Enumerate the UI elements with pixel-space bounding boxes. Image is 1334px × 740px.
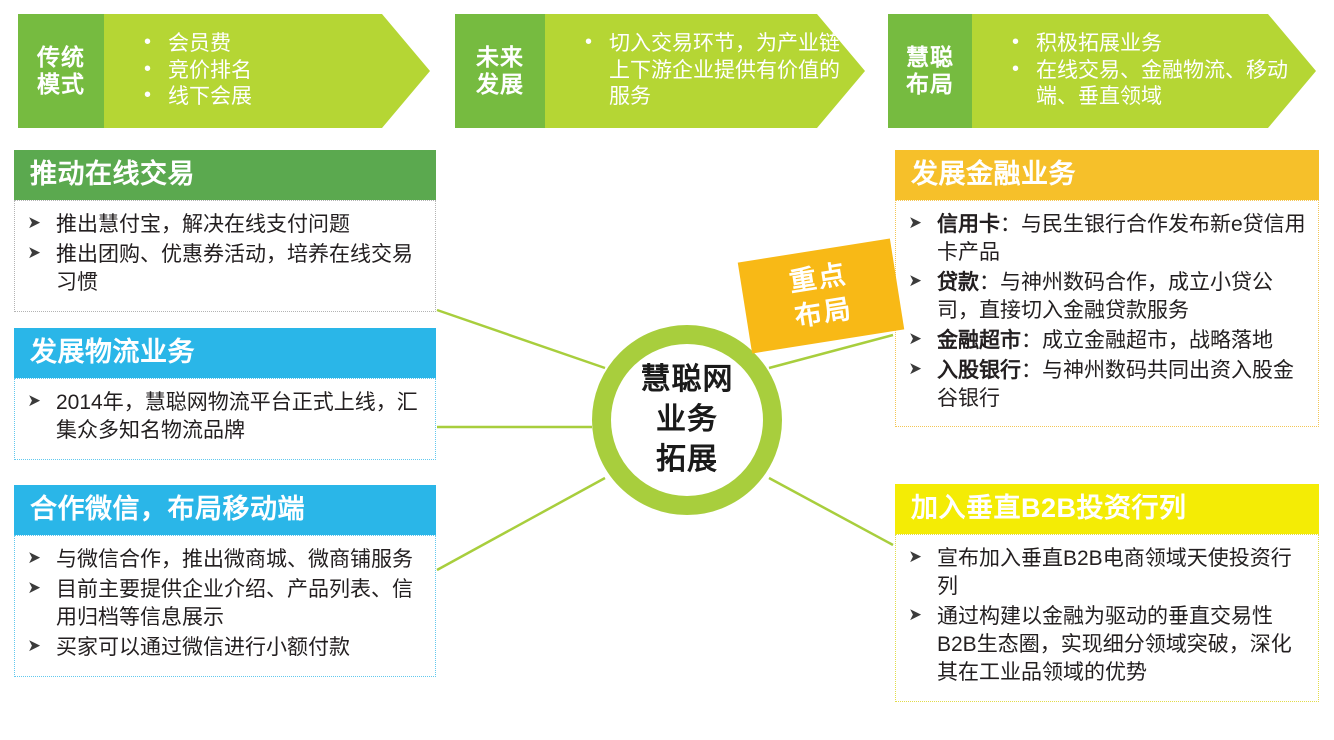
card-body: 推出慧付宝，解决在线支付问题 推出团购、优惠券活动，培养在线交易习惯 <box>14 200 436 312</box>
banner-traditional-list: 会员费 竞价排名 线下会展 <box>104 31 252 112</box>
list-item: 推出团购、优惠券活动，培养在线交易习惯 <box>25 241 425 297</box>
list-item-label: 信用卡 <box>937 213 1000 236</box>
list-item: 推出慧付宝，解决在线支付问题 <box>25 211 425 239</box>
card-develop-finance: 发展金融业务 信用卡：与民生银行合作发布新e贷信用卡产品 贷款：与神州数码合作，… <box>895 150 1319 427</box>
card-body: 与微信合作，推出微商城、微商铺服务 目前主要提供企业介绍、产品列表、信用归档等信… <box>14 535 436 677</box>
banner-hc-list: 积极拓展业务 在线交易、金融物流、移动端、垂直领域 <box>972 31 1316 112</box>
banner-hc-tab-line2: 布局 <box>906 71 954 98</box>
list-item: 积极拓展业务 <box>1010 31 1316 58</box>
connector-online <box>437 310 605 368</box>
center-line-2: 业务 <box>656 400 718 440</box>
card-list: 推出慧付宝，解决在线支付问题 推出团购、优惠券活动，培养在线交易习惯 <box>25 211 425 297</box>
banner-traditional-tab-line2: 模式 <box>37 71 85 98</box>
focus-tag: 重点 布局 <box>738 239 904 354</box>
list-item-label: 贷款 <box>937 271 979 294</box>
list-item: 金融超市：成立金融超市，战略落地 <box>906 327 1308 355</box>
card-title: 加入垂直B2B投资行列 <box>895 484 1319 534</box>
list-item: 宣布加入垂直B2B电商领域天使投资行列 <box>906 545 1308 601</box>
card-list: 宣布加入垂直B2B电商领域天使投资行列 通过构建以金融为驱动的垂直交易性B2B生… <box>906 545 1308 687</box>
banner-hc-body: 积极拓展业务 在线交易、金融物流、移动端、垂直领域 <box>972 14 1316 128</box>
card-body: 信用卡：与民生银行合作发布新e贷信用卡产品 贷款：与神州数码合作，成立小贷公司，… <box>895 200 1319 427</box>
center-line-3: 拓展 <box>656 440 718 480</box>
list-item-label: 金融超市 <box>937 329 1021 352</box>
banner-traditional-tab-line1: 传统 <box>37 44 85 71</box>
list-item: 贷款：与神州数码合作，成立小贷公司，直接切入金融贷款服务 <box>906 269 1308 325</box>
card-list: 信用卡：与民生银行合作发布新e贷信用卡产品 贷款：与神州数码合作，成立小贷公司，… <box>906 211 1308 412</box>
card-wechat-mobile: 合作微信，布局移动端 与微信合作，推出微商城、微商铺服务 目前主要提供企业介绍、… <box>14 485 436 677</box>
banner-future-list: 切入交易环节，为产业链上下游企业提供有价值的服务 <box>545 31 859 112</box>
card-title: 发展物流业务 <box>14 328 436 378</box>
banner-hc-tab: 慧聪 布局 <box>888 14 972 128</box>
banner-traditional-body: 会员费 竞价排名 线下会展 <box>104 14 430 128</box>
banner-future-body: 切入交易环节，为产业链上下游企业提供有价值的服务 <box>545 14 865 128</box>
banner-future-tab-line2: 发展 <box>476 71 524 98</box>
center-circle: 慧聪网 业务 拓展 <box>592 325 782 515</box>
banner-hc-tab-line1: 慧聪 <box>906 44 954 71</box>
card-list: 2014年，慧聪网物流平台正式上线，汇集众多知名物流品牌 <box>25 389 425 445</box>
banner-future-tab-line1: 未来 <box>476 44 524 71</box>
card-title: 合作微信，布局移动端 <box>14 485 436 535</box>
list-item: 线下会展 <box>142 84 252 111</box>
list-item: 买家可以通过微信进行小额付款 <box>25 634 425 662</box>
banner-traditional-tab: 传统 模式 <box>18 14 104 128</box>
list-item: 与微信合作，推出微商城、微商铺服务 <box>25 546 425 574</box>
banner-hc-layout: 慧聪 布局 积极拓展业务 在线交易、金融物流、移动端、垂直领域 <box>888 14 1316 128</box>
list-item: 信用卡：与民生银行合作发布新e贷信用卡产品 <box>906 211 1308 267</box>
banner-future-development: 未来 发展 切入交易环节，为产业链上下游企业提供有价值的服务 <box>455 14 865 128</box>
center-line-1: 慧聪网 <box>641 360 734 400</box>
banner-future-tab: 未来 发展 <box>455 14 545 128</box>
card-title: 推动在线交易 <box>14 150 436 200</box>
list-item: 目前主要提供企业介绍、产品列表、信用归档等信息展示 <box>25 576 425 632</box>
list-item-text: ：成立金融超市，战略落地 <box>1021 329 1273 352</box>
connector-wechat <box>437 478 605 570</box>
list-item-text: ：与神州数码合作，成立小贷公司，直接切入金融贷款服务 <box>937 271 1273 322</box>
card-push-online-trading: 推动在线交易 推出慧付宝，解决在线支付问题 推出团购、优惠券活动，培养在线交易习… <box>14 150 436 312</box>
card-list: 与微信合作，推出微商城、微商铺服务 目前主要提供企业介绍、产品列表、信用归档等信… <box>25 546 425 662</box>
list-item: 2014年，慧聪网物流平台正式上线，汇集众多知名物流品牌 <box>25 389 425 445</box>
focus-tag-line-2: 布局 <box>792 291 855 335</box>
connector-b2b <box>769 478 893 545</box>
card-join-b2b-investment: 加入垂直B2B投资行列 宣布加入垂直B2B电商领域天使投资行列 通过构建以金融为… <box>895 484 1319 702</box>
card-title: 发展金融业务 <box>895 150 1319 200</box>
list-item-label: 入股银行 <box>937 359 1021 382</box>
list-item: 竞价排名 <box>142 58 252 85</box>
list-item: 切入交易环节，为产业链上下游企业提供有价值的服务 <box>583 31 859 112</box>
banner-traditional-mode: 传统 模式 会员费 竞价排名 线下会展 <box>18 14 430 128</box>
card-body: 宣布加入垂直B2B电商领域天使投资行列 通过构建以金融为驱动的垂直交易性B2B生… <box>895 534 1319 702</box>
list-item: 通过构建以金融为驱动的垂直交易性B2B生态圈，实现细分领域突破，深化其在工业品领… <box>906 603 1308 687</box>
card-body: 2014年，慧聪网物流平台正式上线，汇集众多知名物流品牌 <box>14 378 436 460</box>
list-item: 入股银行：与神州数码共同出资入股金谷银行 <box>906 357 1308 413</box>
list-item: 会员费 <box>142 31 252 58</box>
list-item: 在线交易、金融物流、移动端、垂直领域 <box>1010 58 1316 112</box>
card-develop-logistics: 发展物流业务 2014年，慧聪网物流平台正式上线，汇集众多知名物流品牌 <box>14 328 436 460</box>
